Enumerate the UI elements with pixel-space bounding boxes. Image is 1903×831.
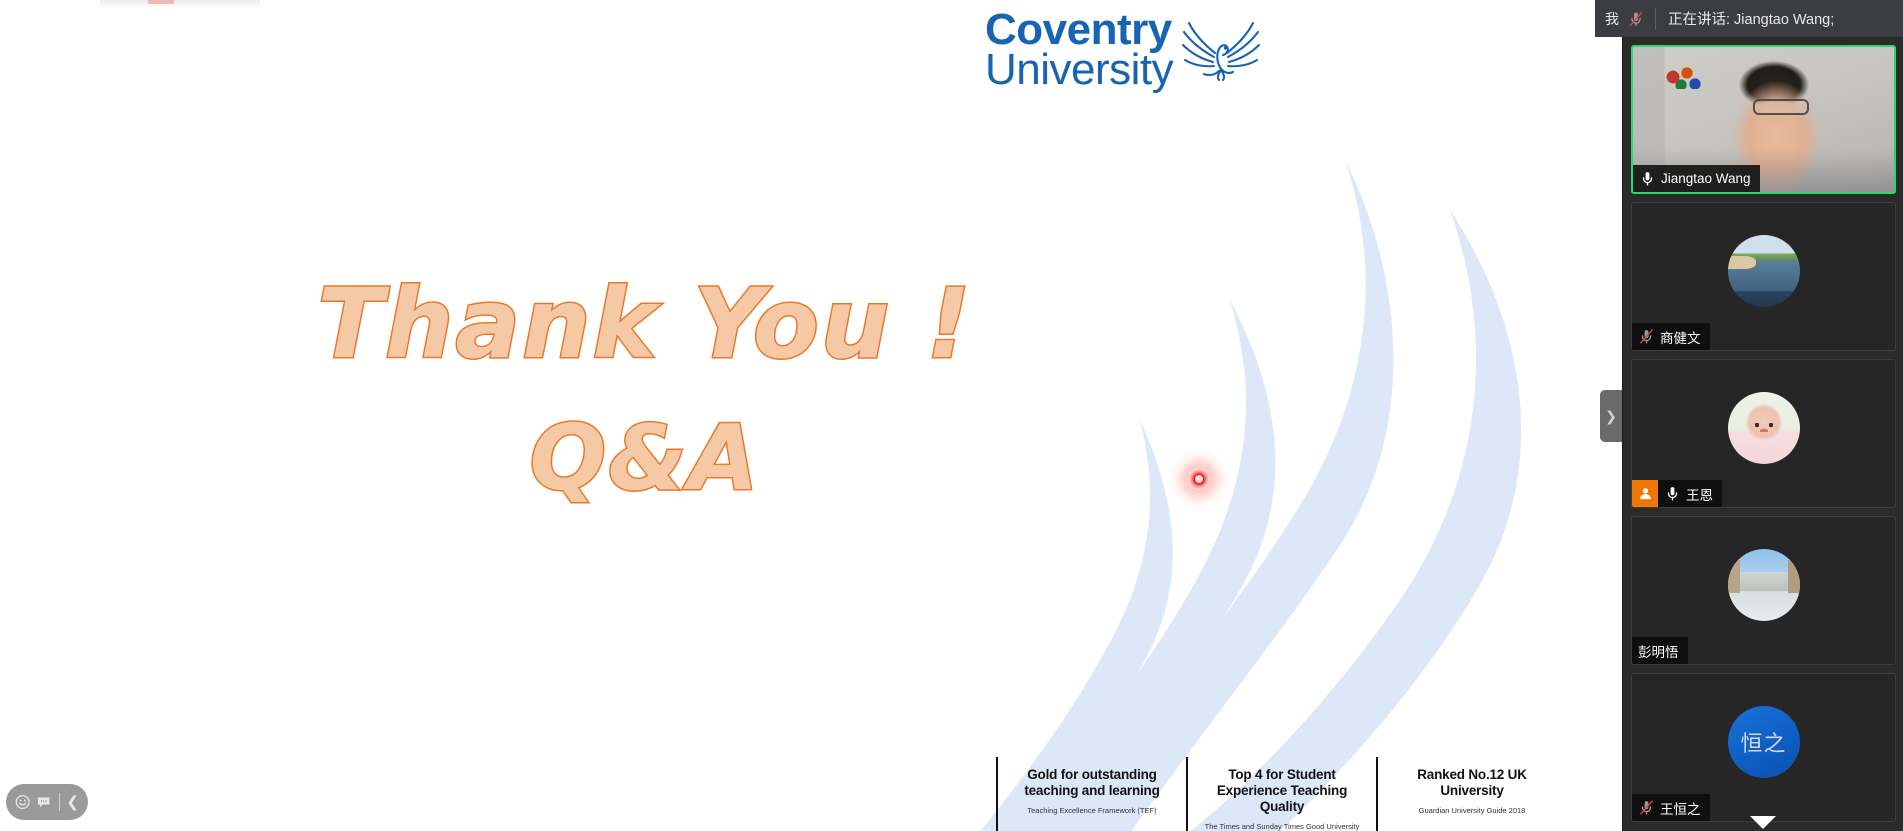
participant-nameplate: 王恒之	[1632, 794, 1710, 821]
logo-wordmark: Coventry University	[985, 10, 1173, 91]
participant-nameplate: 彭明悟	[1632, 637, 1688, 664]
microphone-icon	[1664, 485, 1681, 502]
microphone-muted-icon	[1638, 328, 1655, 345]
zoom-meeting-screen: Coventry University	[0, 0, 1903, 831]
slide-title-block: Thank You ! Q&A	[0, 255, 1290, 525]
participant-name: 彭明悟	[1638, 641, 1679, 661]
toolbar-divider	[59, 793, 60, 811]
chevron-left-icon[interactable]: ❮	[66, 795, 79, 810]
participant-tile[interactable]: 王恩	[1631, 359, 1896, 508]
participant-tile[interactable]: Jiangtao Wang	[1631, 45, 1896, 194]
participant-tile[interactable]: 恒之 王恒之	[1631, 673, 1896, 822]
avatar	[1728, 392, 1800, 464]
nameplate-body: Jiangtao Wang	[1633, 165, 1760, 192]
participant-name: Jiangtao Wang	[1661, 171, 1751, 186]
hidden-toolbar-ghost	[100, 0, 260, 8]
logo-line-coventry: Coventry	[985, 10, 1173, 50]
microphone-muted-icon[interactable]	[1627, 10, 1645, 28]
shared-screen-slide: Coventry University	[0, 0, 1625, 831]
reaction-toolbar[interactable]: ❮	[6, 784, 88, 820]
ranking-headline: Top 4 for Student Experience Teaching Qu…	[1196, 767, 1368, 815]
triangle-down-icon[interactable]	[1750, 816, 1776, 829]
active-speaker-status: 正在讲话: Jiangtao Wang;	[1668, 8, 1834, 29]
chat-bubble-icon[interactable]	[36, 792, 51, 812]
coventry-university-logo: Coventry University	[985, 8, 1285, 92]
avatar-initials: 恒之	[1740, 726, 1786, 758]
avatar	[1728, 235, 1800, 307]
host-person-icon	[1632, 480, 1658, 507]
hidden-toolbar-ghost-accent	[148, 0, 174, 4]
rankings-banner: Gold for outstanding teaching and learni…	[996, 757, 1566, 831]
logo-line-university: University	[985, 50, 1173, 90]
meeting-status-bar: 我 正在讲话: Jiangtao Wang;	[1595, 0, 1903, 37]
ranking-source: Teaching Excellence Framework (TEF)	[1027, 807, 1156, 815]
ranking-source: Guardian University Guide 2018	[1419, 807, 1526, 815]
self-participant-label: 我	[1605, 12, 1619, 26]
nameplate-body: 彭明悟	[1632, 637, 1688, 664]
nameplate-body: 王恩	[1658, 480, 1722, 507]
nameplate-body: 商健文	[1632, 323, 1710, 350]
participant-nameplate: Jiangtao Wang	[1633, 165, 1760, 192]
participant-name: 王恩	[1686, 484, 1713, 504]
participant-nameplate: 商健文	[1632, 323, 1710, 350]
ranking-item: Ranked No.12 UK University Guardian Univ…	[1376, 757, 1566, 831]
participant-video-panel: 我 正在讲话: Jiangtao Wang;	[1622, 0, 1903, 831]
participant-nameplate: 王恩	[1632, 480, 1722, 507]
laser-pointer-dot	[1188, 468, 1210, 490]
avatar	[1728, 549, 1800, 621]
participant-name: 王恒之	[1660, 798, 1701, 818]
microphone-icon	[1639, 170, 1656, 187]
ranking-headline: Gold for outstanding teaching and learni…	[1006, 767, 1178, 799]
participant-tile[interactable]: 彭明悟	[1631, 516, 1896, 665]
panel-collapse-toggle[interactable]: ❯	[1600, 390, 1622, 442]
phoenix-emblem-icon	[1181, 19, 1261, 81]
ranking-headline: Ranked No.12 UK University	[1386, 767, 1558, 799]
slide-heading-thank-you: Thank You !	[0, 255, 1290, 394]
slide-heading-qa: Q&A	[0, 394, 1290, 525]
participant-name: 商健文	[1660, 327, 1701, 347]
chevron-right-icon: ❯	[1605, 409, 1617, 423]
ranking-source: The Times and Sunday Times Good Universi…	[1196, 823, 1368, 831]
smiley-face-icon[interactable]	[15, 792, 30, 812]
participant-tile[interactable]: 商健文	[1631, 202, 1896, 351]
status-bar-divider	[1655, 8, 1656, 30]
avatar: 恒之	[1728, 706, 1800, 778]
nameplate-body: 王恒之	[1632, 794, 1710, 821]
ranking-item: Top 4 for Student Experience Teaching Qu…	[1186, 757, 1376, 831]
ranking-item: Gold for outstanding teaching and learni…	[996, 757, 1186, 831]
participant-tile-list[interactable]: Jiangtao Wang 商健文	[1623, 37, 1903, 831]
microphone-muted-icon	[1638, 799, 1655, 816]
